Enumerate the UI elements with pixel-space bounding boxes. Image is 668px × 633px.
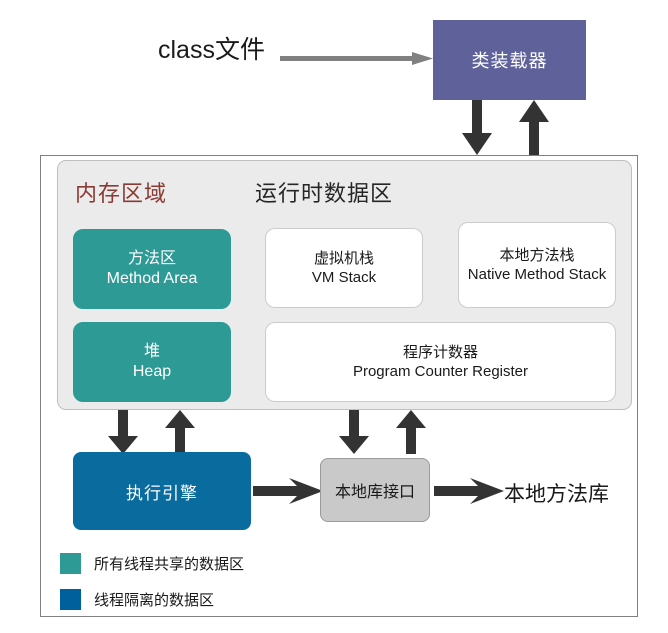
heap-label-en: Heap — [133, 362, 171, 382]
classloader-label: 类装载器 — [472, 47, 548, 73]
heap-label-cn: 堆 — [144, 342, 160, 362]
pc-native-interface-arrows-icon — [335, 410, 405, 454]
legend-swatch-shared-icon — [60, 553, 81, 574]
heap-box: 堆 Heap — [73, 322, 231, 402]
vm-stack-box: 虚拟机栈 VM Stack — [265, 228, 423, 308]
execution-engine-to-native-interface-arrow-icon — [253, 478, 323, 504]
class-file-label: class文件 — [158, 38, 265, 63]
jvm-architecture-diagram: class文件 类装载器 内存区域 运行时数据区 方法区 Method Area… — [0, 0, 668, 633]
class-file-to-classloader-arrow-icon — [280, 52, 433, 65]
vm-stack-label-en: VM Stack — [312, 268, 376, 287]
method-area-box: 方法区 Method Area — [73, 229, 231, 309]
execution-engine-box: 执行引擎 — [73, 452, 251, 530]
legend-label-shared: 所有线程共享的数据区 — [94, 553, 244, 574]
native-interface-to-native-library-arrow-icon — [434, 478, 504, 504]
legend-swatch-thread-private-icon — [60, 589, 81, 610]
program-counter-label-cn: 程序计数器 — [403, 343, 478, 362]
method-area-label-en: Method Area — [107, 269, 198, 289]
runtime-data-area-title: 运行时数据区 — [255, 176, 393, 208]
execution-engine-label: 执行引擎 — [126, 479, 198, 504]
legend-item-thread-private: 线程隔离的数据区 — [60, 584, 360, 614]
native-method-stack-label-cn: 本地方法栈 — [499, 246, 574, 265]
classloader-runtime-arrows-icon — [455, 100, 525, 155]
native-interface-box: 本地库接口 — [320, 458, 430, 522]
program-counter-label-en: Program Counter Register — [353, 362, 528, 381]
native-library-label: 本地方法库 — [504, 478, 609, 508]
program-counter-register-box: 程序计数器 Program Counter Register — [265, 322, 616, 402]
classloader-box: 类装载器 — [433, 20, 586, 100]
legend-item-shared: 所有线程共享的数据区 — [60, 548, 360, 578]
memory-area-title: 内存区域 — [75, 176, 167, 208]
legend-label-thread-private: 线程隔离的数据区 — [94, 589, 214, 610]
heap-execution-engine-arrows-icon — [104, 410, 174, 454]
legend: 所有线程共享的数据区 线程隔离的数据区 — [60, 548, 360, 620]
vm-stack-label-cn: 虚拟机栈 — [314, 249, 374, 268]
native-method-stack-label-en: Native Method Stack — [468, 265, 606, 284]
native-method-stack-box: 本地方法栈 Native Method Stack — [458, 222, 616, 308]
method-area-label-cn: 方法区 — [128, 249, 176, 269]
native-interface-label: 本地库接口 — [335, 478, 415, 502]
